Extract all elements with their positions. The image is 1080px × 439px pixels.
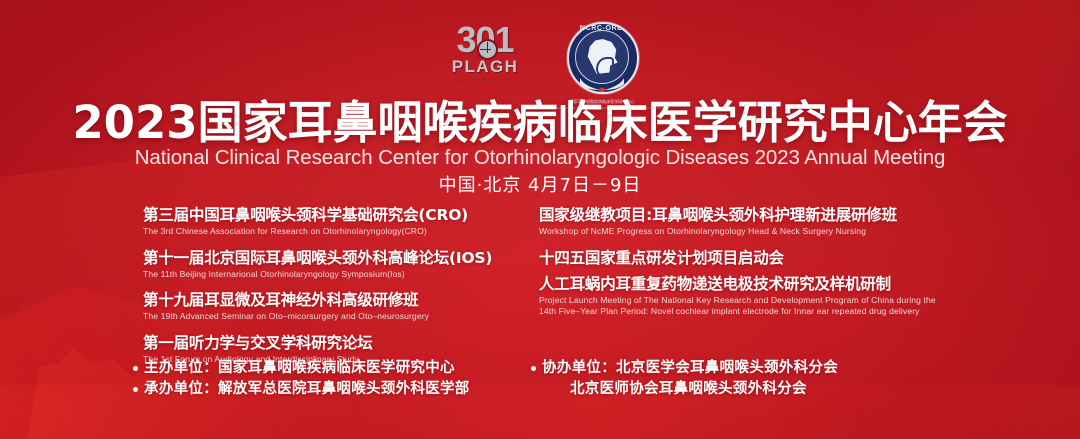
organizer-section: 主办单位：国家耳鼻咽喉疾病临床医学研究中心 承办单位：解放军总医院耳鼻咽喉头颈外… bbox=[0, 358, 1080, 418]
logo-row: 301 PLAGH Chinese PLA General Hospital N… bbox=[0, 22, 1080, 98]
logo-plagh-name: PLAGH bbox=[452, 58, 519, 76]
program-title-cn: 人工耳蜗内耳重复药物递送电极技术研究及样机研制 bbox=[539, 275, 959, 294]
bullet-icon bbox=[531, 366, 536, 371]
organizer-line: 协办单位：北京医学会耳鼻咽喉头颈外科分会 bbox=[531, 358, 838, 379]
organizer-group-right: 协办单位：北京医学会耳鼻咽喉头颈外科分会 北京医师协会耳鼻咽喉头颈外科分会 bbox=[531, 358, 838, 400]
bullet-icon bbox=[133, 387, 138, 392]
organizer-text: 主办单位：国家耳鼻咽喉疾病临床医学研究中心 bbox=[144, 358, 455, 379]
bullet-icon bbox=[133, 366, 138, 371]
list-item: 人工耳蜗内耳重复药物递送电极技术研究及样机研制 Project Launch M… bbox=[539, 275, 959, 318]
program-title-cn: 第十一届北京国际耳鼻咽喉头颈外科高峰论坛(IOS) bbox=[143, 249, 533, 268]
organizer-text: 承办单位：解放军总医院耳鼻咽喉头颈外科医学部 bbox=[144, 379, 470, 400]
program-title-cn: 十四五国家重点研发计划项目启动会 bbox=[539, 249, 959, 268]
page-title-chinese: 2023国家耳鼻咽喉疾病临床医学研究中心年会 bbox=[0, 100, 1080, 146]
crosshair-icon bbox=[477, 39, 498, 60]
program-column-right: 国家级继教项目:耳鼻咽喉头颈外科护理新进展研修班 Workshop of NcM… bbox=[539, 206, 959, 329]
program-title-en: The 19th Advanced Seminar on Oto–micorsu… bbox=[143, 311, 533, 323]
organizer-group-left: 主办单位：国家耳鼻咽喉疾病临床医学研究中心 承办单位：解放军总医院耳鼻咽喉头颈外… bbox=[133, 358, 470, 400]
program-title-cn: 国家级继教项目:耳鼻咽喉头颈外科护理新进展研修班 bbox=[539, 206, 959, 225]
list-item: 第三届中国耳鼻咽喉头颈科学基础研究会(CRO) The 3rd Chinese … bbox=[143, 206, 533, 238]
program-title-cn: 第一届听力学与交叉学科研究论坛 bbox=[143, 334, 533, 353]
program-title-en: The 3rd Chinese Association for Research… bbox=[143, 226, 533, 238]
program-column-left: 第三届中国耳鼻咽喉头颈科学基础研究会(CRO) The 3rd Chinese … bbox=[143, 206, 533, 376]
organizer-line: 主办单位：国家耳鼻咽喉疾病临床医学研究中心 bbox=[133, 358, 470, 379]
program-title-en: The 11th Beijing Internarional Otorhinol… bbox=[143, 269, 533, 281]
program-columns: 第三届中国耳鼻咽喉头颈科学基础研究会(CRO) The 3rd Chinese … bbox=[0, 206, 1080, 351]
laurel-wreath-icon bbox=[574, 74, 630, 92]
bullet-spacer bbox=[531, 387, 536, 392]
logo-ncrc-orl: NCRC-ORL 国家耳鼻咽喉疾病临床医学研究中心 NATIONAL CLINI… bbox=[563, 22, 641, 96]
organizer-text: 协办单位：北京医学会耳鼻咽喉头颈外科分会 bbox=[542, 358, 838, 379]
list-item: 国家级继教项目:耳鼻咽喉头颈外科护理新进展研修班 Workshop of NcM… bbox=[539, 206, 959, 238]
logo-plagh-301: 301 PLAGH Chinese PLA General Hospital bbox=[439, 22, 531, 94]
program-title-cn: 第十九届耳显微及耳神经外科高级研修班 bbox=[143, 291, 533, 310]
program-title-en: Workshop of NcME Progress on Otorhinolar… bbox=[539, 226, 959, 238]
list-item: 第十九届耳显微及耳神经外科高级研修班 The 19th Advanced Sem… bbox=[143, 291, 533, 323]
event-location-date: 中国·北京 4月7日－9日 bbox=[0, 175, 1080, 197]
organizer-line: 北京医师协会耳鼻咽喉头颈外科分会 bbox=[531, 379, 838, 400]
page-title-english: National Clinical Research Center for Ot… bbox=[0, 147, 1080, 169]
list-item: 十四五国家重点研发计划项目启动会 bbox=[539, 249, 959, 268]
conference-banner: 301 PLAGH Chinese PLA General Hospital N… bbox=[0, 0, 1080, 439]
organizer-text: 北京医师协会耳鼻咽喉头颈外科分会 bbox=[542, 379, 807, 400]
program-title-en: Project Launch Meeting of The National K… bbox=[539, 295, 939, 318]
organizer-line: 承办单位：解放军总医院耳鼻咽喉头颈外科医学部 bbox=[133, 379, 470, 400]
list-item: 第十一届北京国际耳鼻咽喉头颈外科高峰论坛(IOS) The 11th Beiji… bbox=[143, 249, 533, 281]
logo-plagh-subtitle: Chinese PLA General Hospital bbox=[455, 76, 514, 83]
program-title-cn: 第三届中国耳鼻咽喉头颈科学基础研究会(CRO) bbox=[143, 206, 533, 225]
